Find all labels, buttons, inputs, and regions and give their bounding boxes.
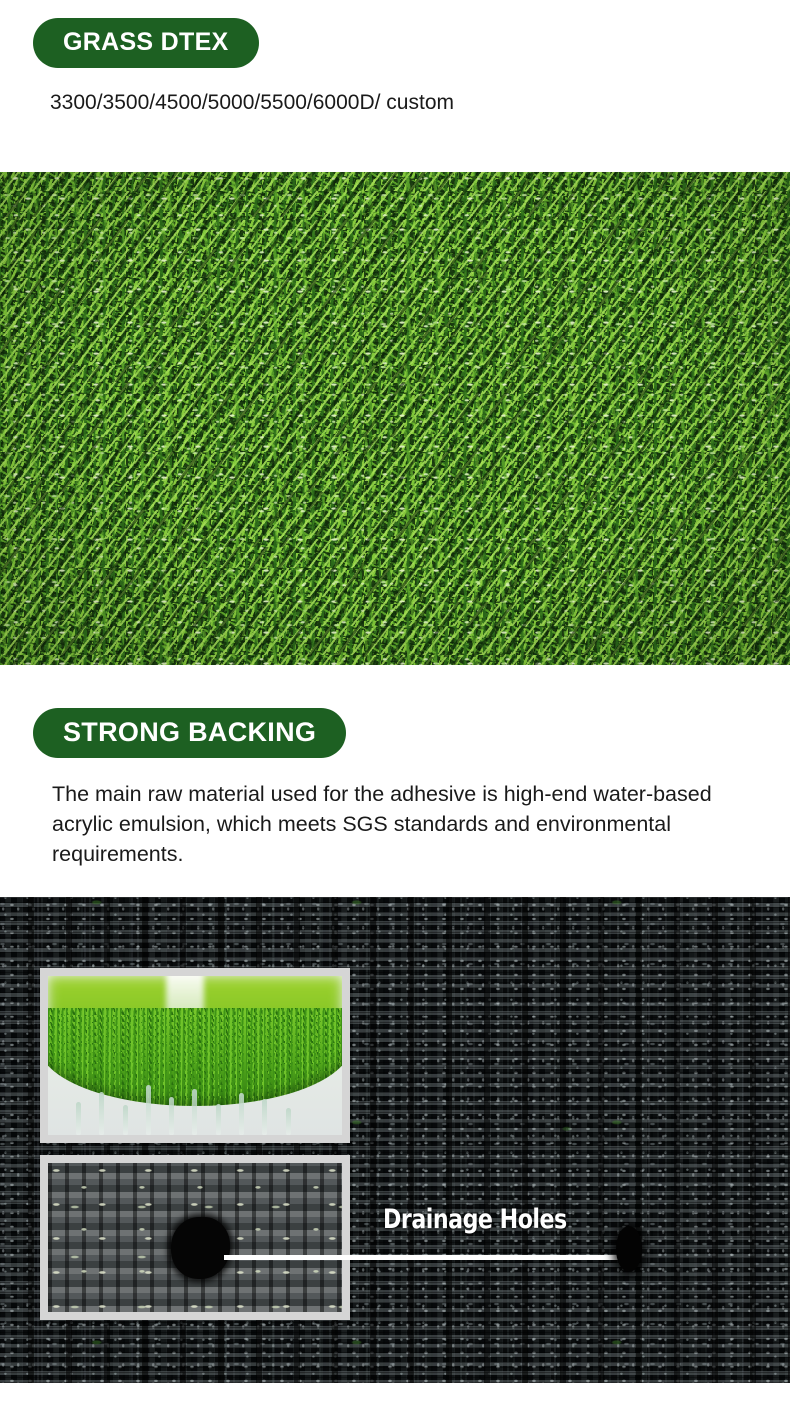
- grass-texture-photo: [0, 172, 790, 665]
- grass-texture-layers: [0, 172, 790, 665]
- drainage-hole-marker: [616, 1226, 642, 1272]
- inset-drainage-hole-photo: [40, 1155, 350, 1320]
- inset-water-image: [48, 976, 342, 1135]
- drainage-holes-label: Drainage Holes: [383, 1205, 567, 1235]
- inset-water-drainage-photo: [40, 968, 350, 1143]
- grass-dtex-badge: GRASS DTEX: [33, 18, 259, 68]
- product-feature-page: GRASS DTEX 3300/3500/4500/5000/5500/6000…: [0, 0, 790, 1414]
- grass-dtex-description: 3300/3500/4500/5000/5500/6000D/ custom: [50, 88, 480, 118]
- strong-backing-badge: STRONG BACKING: [33, 708, 346, 758]
- inset-hole-image: [48, 1163, 342, 1312]
- grass-layer-vignette: [0, 172, 790, 665]
- strong-backing-description: The main raw material used for the adhes…: [52, 779, 752, 869]
- drainage-holes-leader-line: [224, 1255, 628, 1260]
- inset-water-drips: [66, 1081, 325, 1135]
